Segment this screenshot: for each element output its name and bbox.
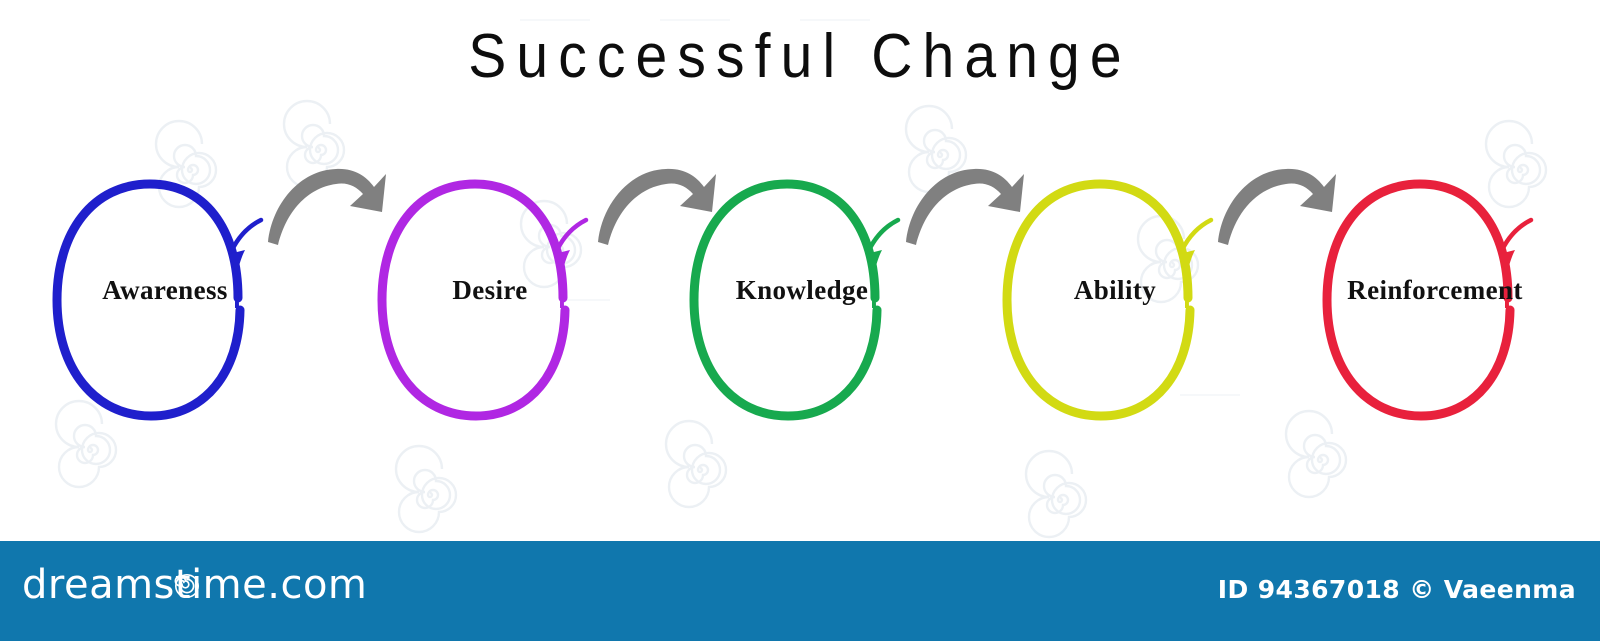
dreamstime-spiral-icon (174, 573, 200, 599)
process-node-awareness[interactable]: Awareness (35, 150, 295, 430)
arrow-desire-to-knowledge (592, 150, 722, 250)
diagram-canvas: Successful Change Awareness Desire (0, 0, 1600, 641)
dreamstime-logo[interactable]: dreamstime.com (22, 565, 367, 605)
arrow-knowledge-to-ability (900, 150, 1030, 250)
process-node-desire[interactable]: Desire (360, 150, 620, 430)
arrow-ability-to-reinforcement (1212, 150, 1342, 250)
image-id-credit: ID 94367018 © Vaeenma (1218, 575, 1576, 604)
process-node-reinforcement[interactable]: Reinforcement (1305, 150, 1565, 430)
arrow-awareness-to-desire (262, 150, 392, 250)
page-title: Successful Change (64, 24, 1536, 89)
watermark-footer-bar: dreamstime.com ID 94367018 © Vaeenma (0, 541, 1600, 641)
process-flow: Awareness Desire Knowledge (0, 150, 1600, 530)
